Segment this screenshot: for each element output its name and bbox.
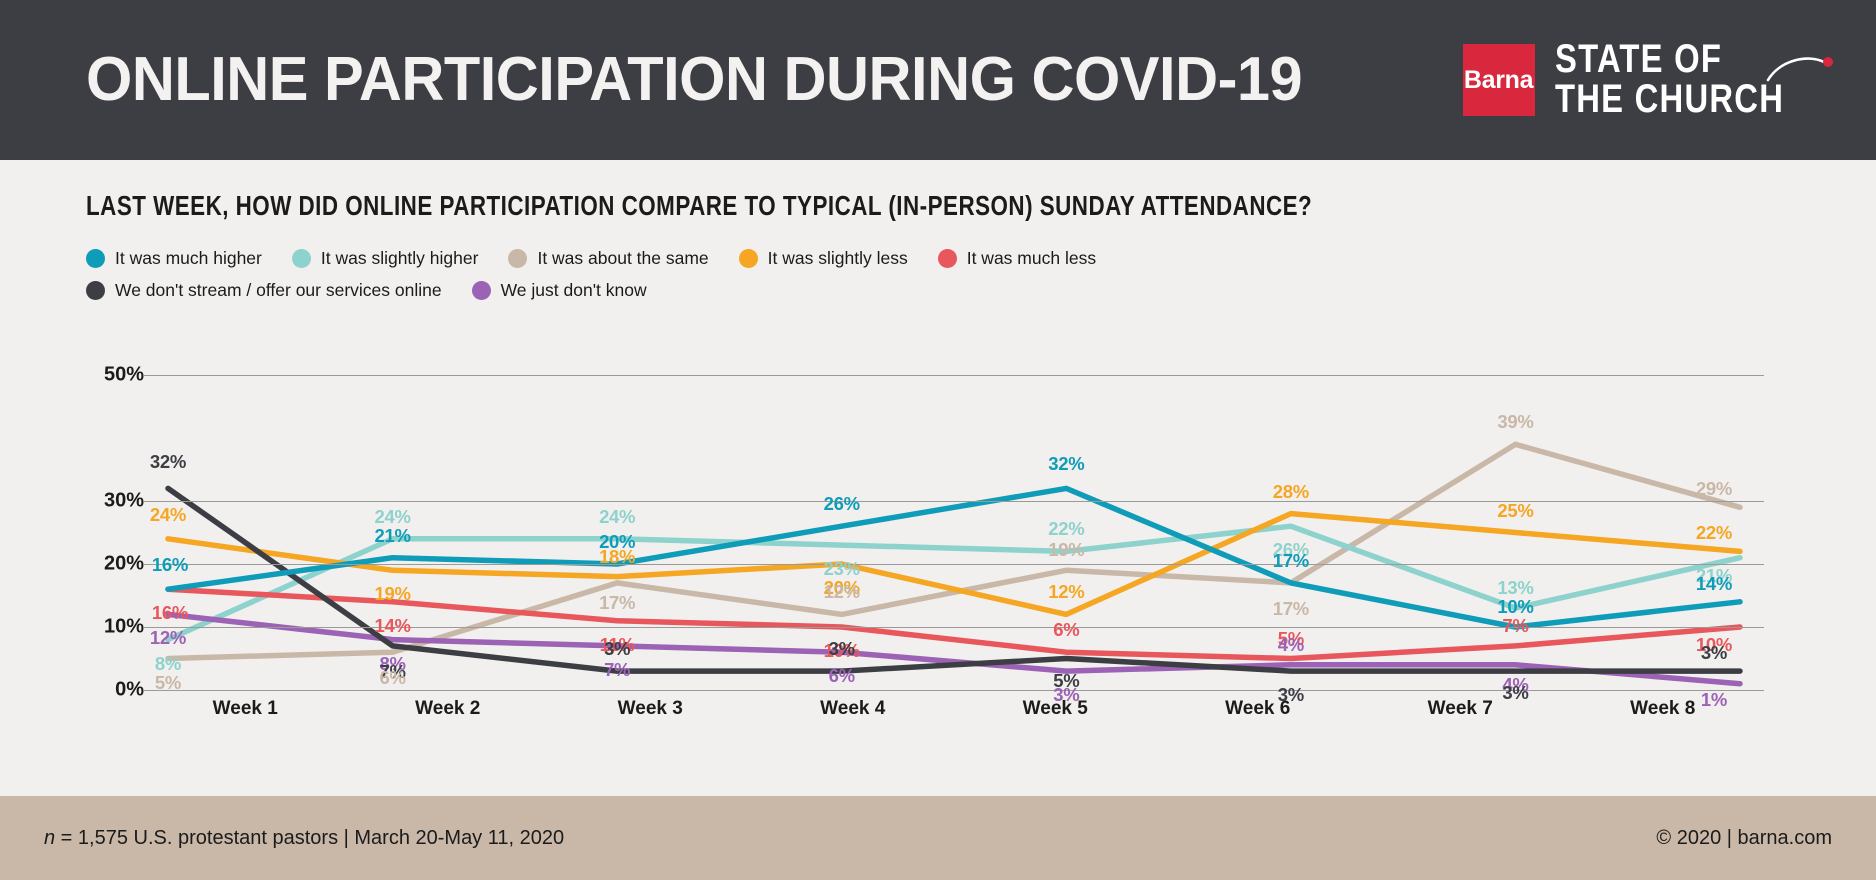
data-point-label: 32% [1048, 453, 1084, 475]
y-axis-tick-label: 0% [115, 679, 144, 702]
data-point-label: 7% [1502, 615, 1528, 637]
data-point-label: 28% [1273, 481, 1309, 503]
data-point-label: 39% [1497, 411, 1533, 433]
swoosh-icon [1766, 54, 1836, 82]
data-point-label: 24% [599, 506, 635, 528]
barna-logo-text: Barna [1464, 66, 1533, 95]
header-bar: ONLINE PARTICIPATION DURING COVID-19 Bar… [0, 0, 1876, 160]
x-axis-tick-label: Week 1 [144, 698, 347, 720]
x-axis-tick-label: Week 7 [1359, 698, 1562, 720]
sample-note-prefix: n [44, 827, 55, 849]
chart-legend: It was much higherIt was slightly higher… [86, 248, 1486, 312]
data-point-label: 29% [1696, 478, 1732, 500]
legend-item-label: It was much less [967, 248, 1096, 269]
y-axis-tick-label: 10% [104, 616, 144, 639]
data-point-label: 14% [1696, 573, 1732, 595]
data-point-label: 17% [599, 592, 635, 614]
gridline [144, 564, 1764, 565]
x-axis-tick-label: Week 6 [1157, 698, 1360, 720]
x-axis-tick-label: Week 3 [549, 698, 752, 720]
data-point-label: 26% [824, 493, 860, 515]
data-point-label: 6% [829, 665, 855, 687]
legend-color-swatch [472, 281, 491, 300]
data-point-label: 6% [379, 667, 405, 689]
data-point-label: 3% [1701, 642, 1727, 664]
y-axis-tick-label: 30% [104, 490, 144, 513]
copyright: © 2020 | barna.com [1656, 827, 1832, 850]
data-point-label: 21% [374, 525, 410, 547]
x-axis-tick-label: Week 4 [752, 698, 955, 720]
logo-line-1: STATE OF [1555, 40, 1784, 80]
legend-item[interactable]: It was slightly less [739, 248, 908, 269]
gridline [144, 375, 1764, 376]
data-point-label: 6% [1053, 619, 1079, 641]
data-point-label: 12% [1048, 581, 1084, 603]
x-axis: Week 1Week 2Week 3Week 4Week 5Week 6Week… [144, 698, 1764, 720]
data-point-label: 14% [374, 615, 410, 637]
x-axis-tick-label: Week 2 [347, 698, 550, 720]
legend-item-label: It was slightly higher [321, 248, 479, 269]
data-point-label: 19% [374, 583, 410, 605]
data-point-label: 25% [1497, 500, 1533, 522]
legend-item[interactable]: It was about the same [508, 248, 708, 269]
chart-question: LAST WEEK, HOW DID ONLINE PARTICIPATION … [86, 190, 1312, 222]
data-point-label: 24% [150, 504, 186, 526]
legend-color-swatch [938, 249, 957, 268]
legend-item-label: It was about the same [537, 248, 708, 269]
barna-logo-mark: Barna [1463, 44, 1535, 116]
legend-row-secondary: We don't stream / offer our services onl… [86, 280, 1486, 301]
state-of-the-church-lockup: STATE OF THE CHURCH [1555, 40, 1834, 119]
data-point-label: 32% [150, 451, 186, 473]
legend-item[interactable]: It was slightly higher [292, 248, 479, 269]
legend-item-label: We don't stream / offer our services onl… [115, 280, 442, 301]
data-point-label: 18% [599, 546, 635, 568]
legend-row-primary: It was much higherIt was slightly higher… [86, 248, 1486, 269]
legend-item-label: It was slightly less [768, 248, 908, 269]
x-axis-tick-label: Week 5 [954, 698, 1157, 720]
legend-item-label: We just don't know [501, 280, 647, 301]
data-point-label: 22% [1696, 522, 1732, 544]
legend-item[interactable]: It was much higher [86, 248, 262, 269]
legend-color-swatch [292, 249, 311, 268]
legend-color-swatch [739, 249, 758, 268]
plot-area: 32%24%16%16%12%8%5%24%21%19%14%8%7%6%24%… [144, 330, 1764, 690]
data-point-label: 22% [1048, 518, 1084, 540]
y-axis-tick-label: 20% [104, 553, 144, 576]
data-point-label: 19% [1048, 539, 1084, 561]
legend-item[interactable]: We don't stream / offer our services onl… [86, 280, 442, 301]
legend-item-label: It was much higher [115, 248, 262, 269]
data-point-label: 3% [604, 638, 630, 660]
infographic-page: ONLINE PARTICIPATION DURING COVID-19 Bar… [0, 0, 1876, 880]
data-point-label: 16% [152, 602, 188, 624]
sample-note-body: = 1,575 U.S. protestant pastors | March … [55, 827, 564, 849]
data-point-label: 16% [152, 554, 188, 576]
sample-note: n = 1,575 U.S. protestant pastors | Marc… [44, 827, 564, 850]
data-point-label: 17% [1273, 550, 1309, 572]
footer-bar: n = 1,575 U.S. protestant pastors | Marc… [0, 796, 1876, 880]
data-point-label: 7% [604, 659, 630, 681]
y-axis: 0%10%20%30%50% [86, 330, 144, 690]
logo-line-2: THE CHURCH [1555, 80, 1784, 120]
data-point-label: 3% [829, 638, 855, 660]
data-point-label: 4% [1278, 634, 1304, 656]
legend-color-swatch [508, 249, 527, 268]
data-point-label: 5% [155, 672, 181, 694]
y-axis-tick-label: 50% [104, 364, 144, 387]
legend-item[interactable]: We just don't know [472, 280, 647, 301]
barna-logo: Barna STATE OF THE CHURCH [1463, 40, 1834, 119]
legend-color-swatch [86, 249, 105, 268]
legend-item[interactable]: It was much less [938, 248, 1096, 269]
x-axis-tick-label: Week 8 [1562, 698, 1765, 720]
line-chart: 0%10%20%30%50% 32%24%16%16%12%8%5%24%21%… [0, 330, 1876, 760]
legend-color-swatch [86, 281, 105, 300]
page-title: ONLINE PARTICIPATION DURING COVID-19 [86, 49, 1302, 111]
data-point-label: 12% [824, 581, 860, 603]
data-point-label: 12% [150, 627, 186, 649]
data-point-label: 17% [1273, 598, 1309, 620]
